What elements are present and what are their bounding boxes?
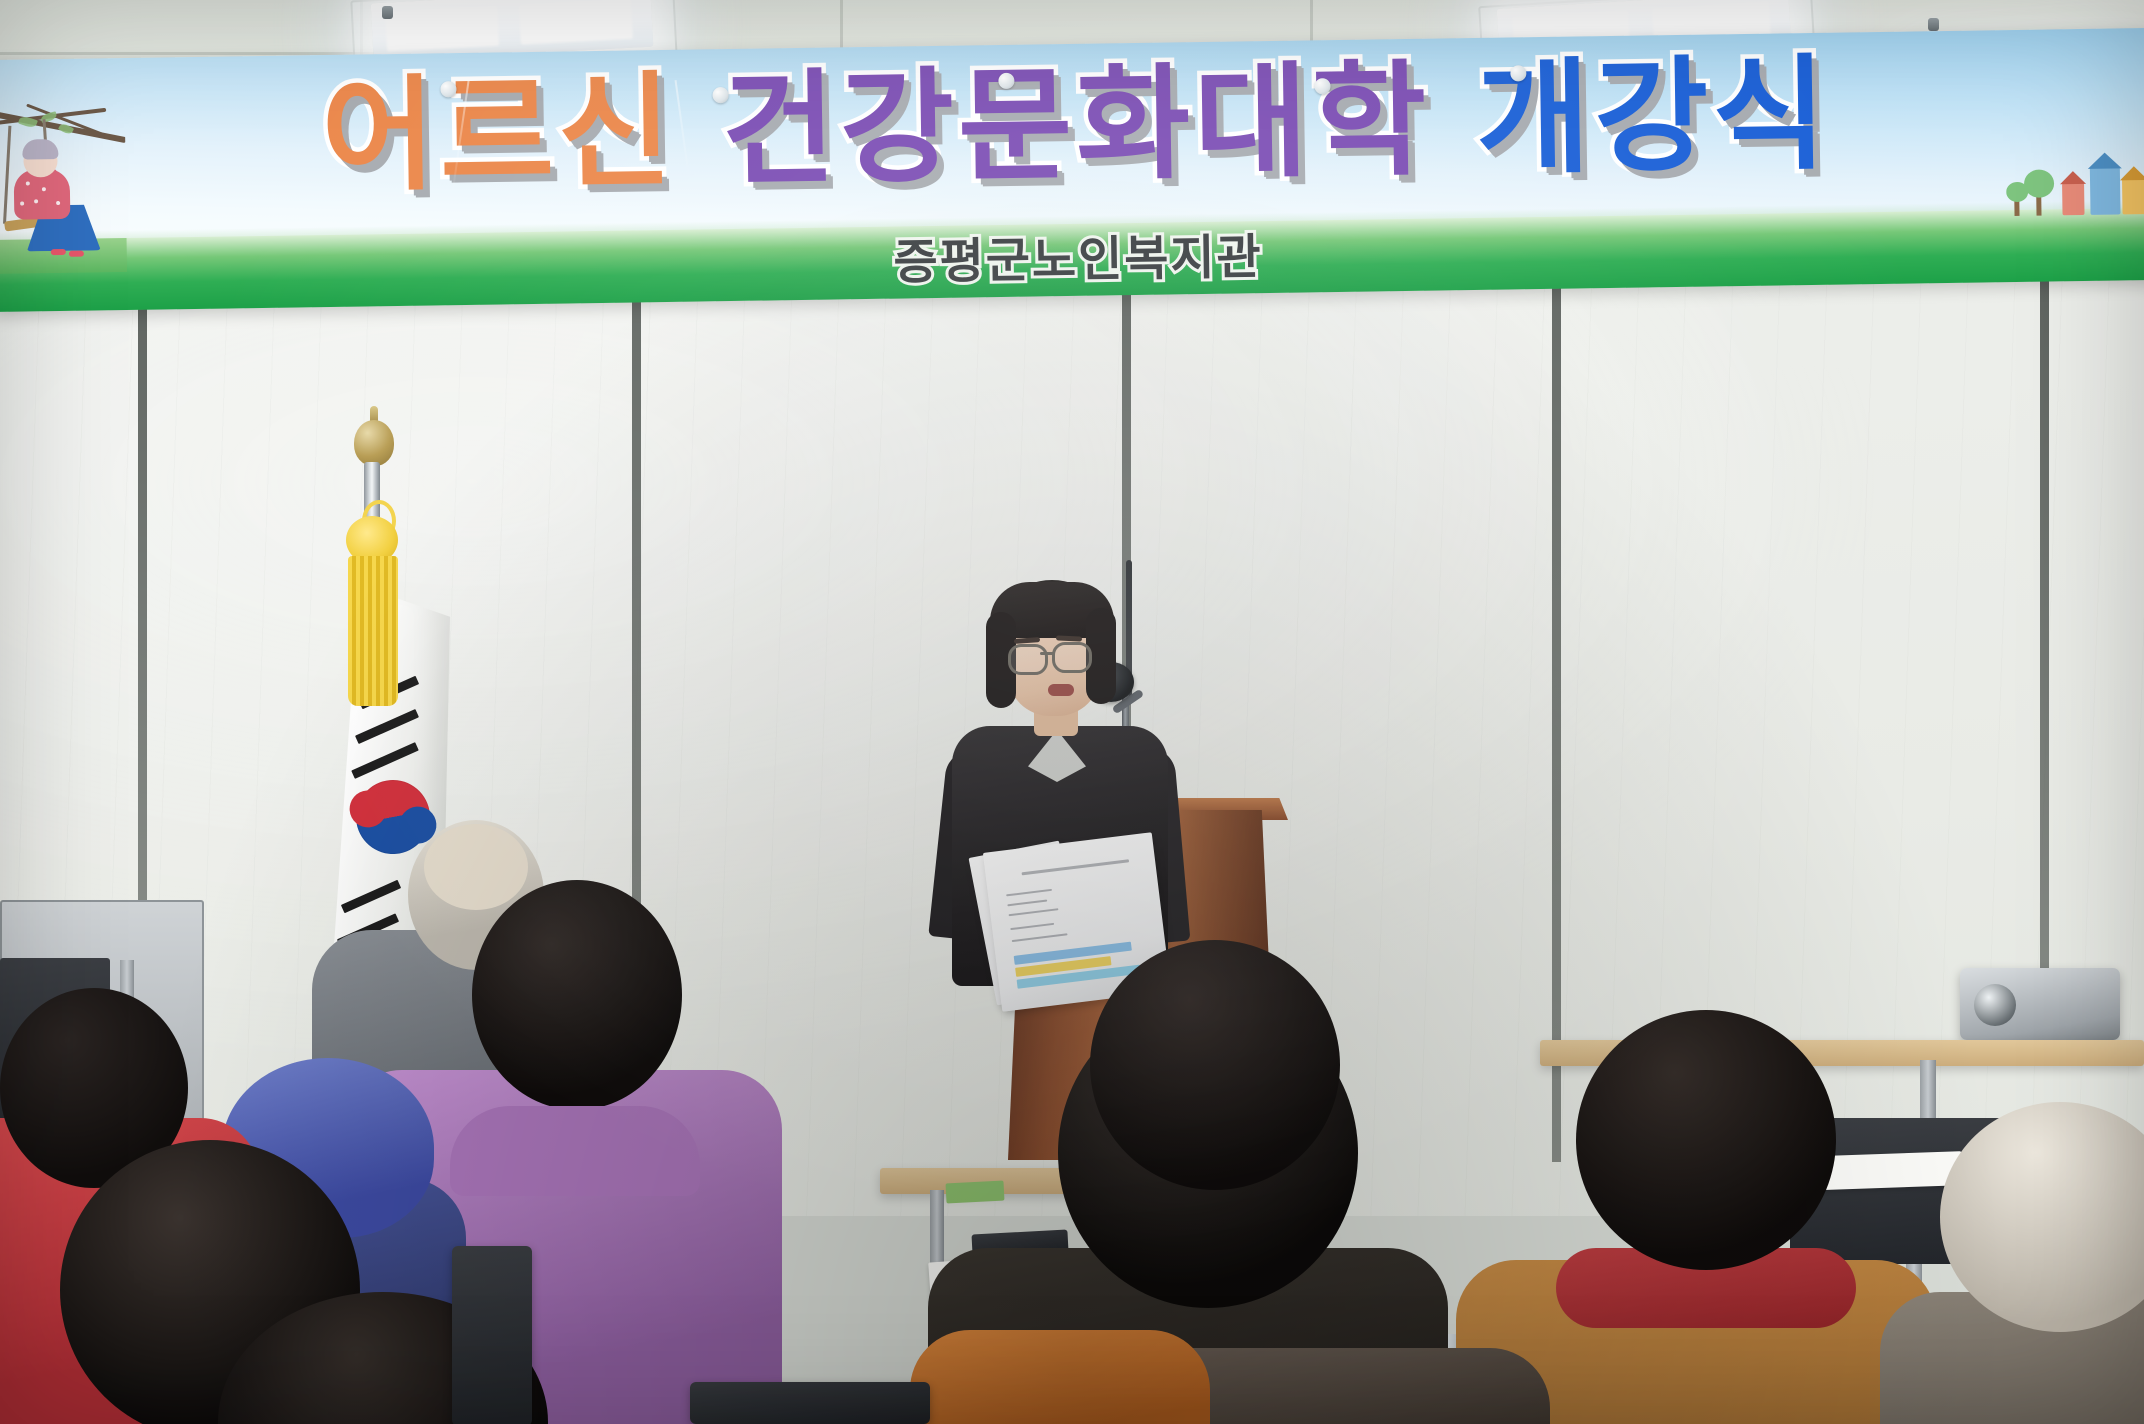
audience-chair <box>452 1246 532 1424</box>
banner-title-orange: 어르신 <box>321 70 677 199</box>
banner-title: 어르신건강문화대학개강식 <box>0 48 2144 204</box>
wall-seam <box>138 236 147 976</box>
speaker-person <box>930 580 1190 1000</box>
audience-head <box>1090 940 1340 1190</box>
green-booklet <box>946 1180 1005 1203</box>
speaker-glasses-lens <box>1008 644 1048 675</box>
speaker-glasses-lens <box>1052 642 1092 673</box>
speaker-mouth <box>1048 684 1074 696</box>
projector-lens <box>1974 984 2016 1026</box>
audience-bald-crown <box>424 824 528 910</box>
audience-chair <box>690 1382 930 1424</box>
photo-scene: 어르신건강문화대학개강식 증평군노인복지관 <box>0 0 2144 1424</box>
wall-seam <box>2040 232 2049 1032</box>
flag-finial <box>354 420 394 466</box>
audience-head <box>1576 1010 1836 1270</box>
sprinkler-head <box>382 6 393 19</box>
audience-head <box>472 880 682 1110</box>
audience-collar <box>450 1106 700 1196</box>
banner-title-blue: 개강식 <box>1475 53 1831 182</box>
event-banner: 어르신건강문화대학개강식 증평군노인복지관 <box>0 28 2144 312</box>
audience-shoulders <box>910 1330 1210 1424</box>
tassel-strands <box>348 556 398 706</box>
wall-seam <box>1552 232 1561 1162</box>
speaker-glasses-bridge <box>1040 652 1054 655</box>
tree-foliage <box>2006 182 2028 202</box>
sprinkler-head <box>1928 18 1939 31</box>
